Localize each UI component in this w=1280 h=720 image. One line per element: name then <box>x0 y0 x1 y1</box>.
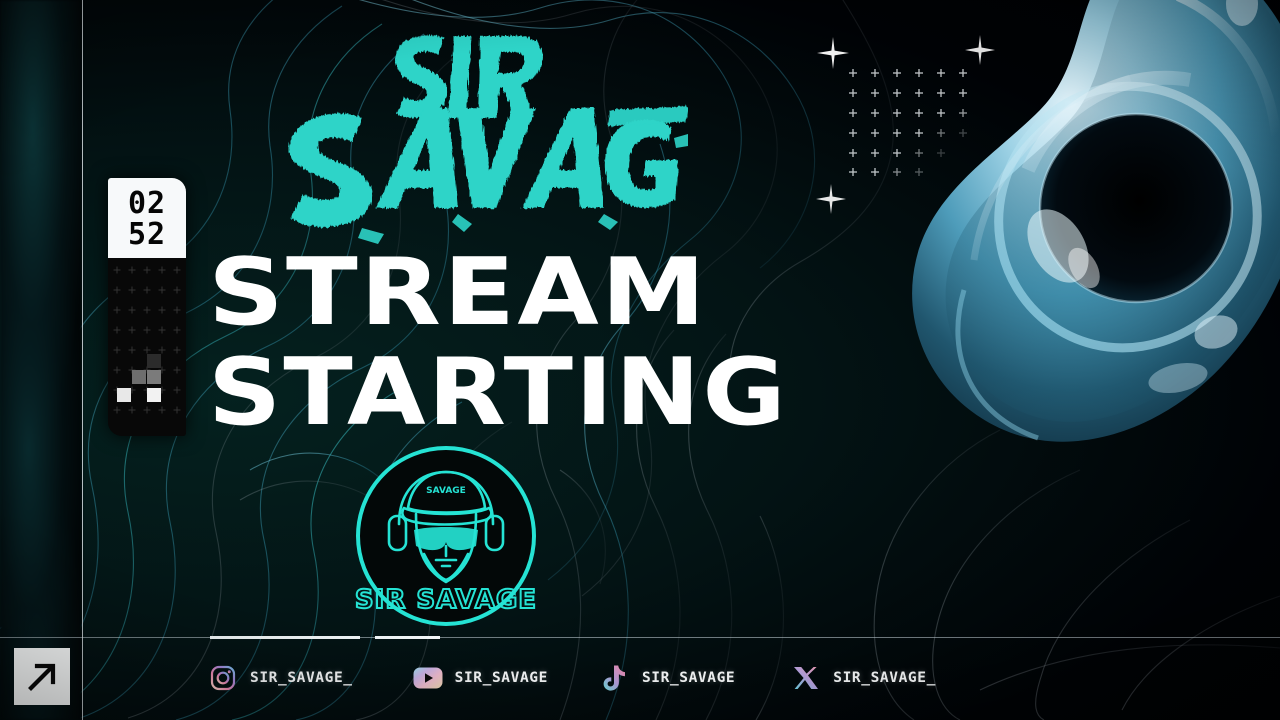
timer-digits: 02 52 <box>108 178 186 258</box>
countdown-timer-widget: 02 52 <box>108 178 186 436</box>
avatar-logo-badge: SAVAGE SIR SAVAGE <box>352 442 540 630</box>
social-link-tiktok[interactable]: SIR_SAVAGE <box>600 663 735 693</box>
progress-bar-segment <box>210 636 360 639</box>
headline-line-2: STARTING <box>208 338 788 446</box>
social-handle: SIR_SAVAGE <box>642 670 735 686</box>
tiktok-icon <box>600 663 630 693</box>
social-handle: SIR_SAVAGE <box>455 670 548 686</box>
horizontal-divider <box>0 637 1280 638</box>
social-link-youtube[interactable]: SIR_SAVAGE <box>413 663 548 693</box>
sparkle-star-icon <box>815 35 851 71</box>
sparkle-star-icon <box>814 182 848 216</box>
x-icon <box>791 663 821 693</box>
social-link-instagram[interactable]: SIR_SAVAGE_ <box>208 663 353 693</box>
stream-starting-overlay: 02 52 <box>0 0 1280 720</box>
social-links-bar: SIR_SAVAGE_ SIR_SAVAGE <box>208 655 936 701</box>
timer-minutes: 02 <box>128 189 166 218</box>
timer-seconds: 52 <box>128 220 166 249</box>
sparkle-star-icon <box>963 33 997 67</box>
headline-block: STREAM STARTING <box>208 246 828 442</box>
progress-bar-segment <box>375 636 440 639</box>
timer-pixel-grid <box>108 258 186 436</box>
headline-line-1: STREAM <box>208 238 708 346</box>
youtube-icon <box>413 663 443 693</box>
left-accent-strip <box>0 0 82 720</box>
avatar-cap-text: SAVAGE <box>426 486 466 496</box>
social-handle: SIR_SAVAGE_ <box>250 670 353 686</box>
avatar-name-text: SIR SAVAGE <box>355 585 537 615</box>
social-link-x[interactable]: SIR_SAVAGE_ <box>791 663 936 693</box>
social-handle: SIR_SAVAGE_ <box>833 670 936 686</box>
brand-wordmark <box>258 18 688 218</box>
vertical-divider <box>82 0 83 720</box>
plus-grid-decoration <box>848 68 968 178</box>
arrow-up-right-icon <box>25 660 59 694</box>
arrow-up-right-button[interactable] <box>14 648 70 705</box>
instagram-icon <box>208 663 238 693</box>
